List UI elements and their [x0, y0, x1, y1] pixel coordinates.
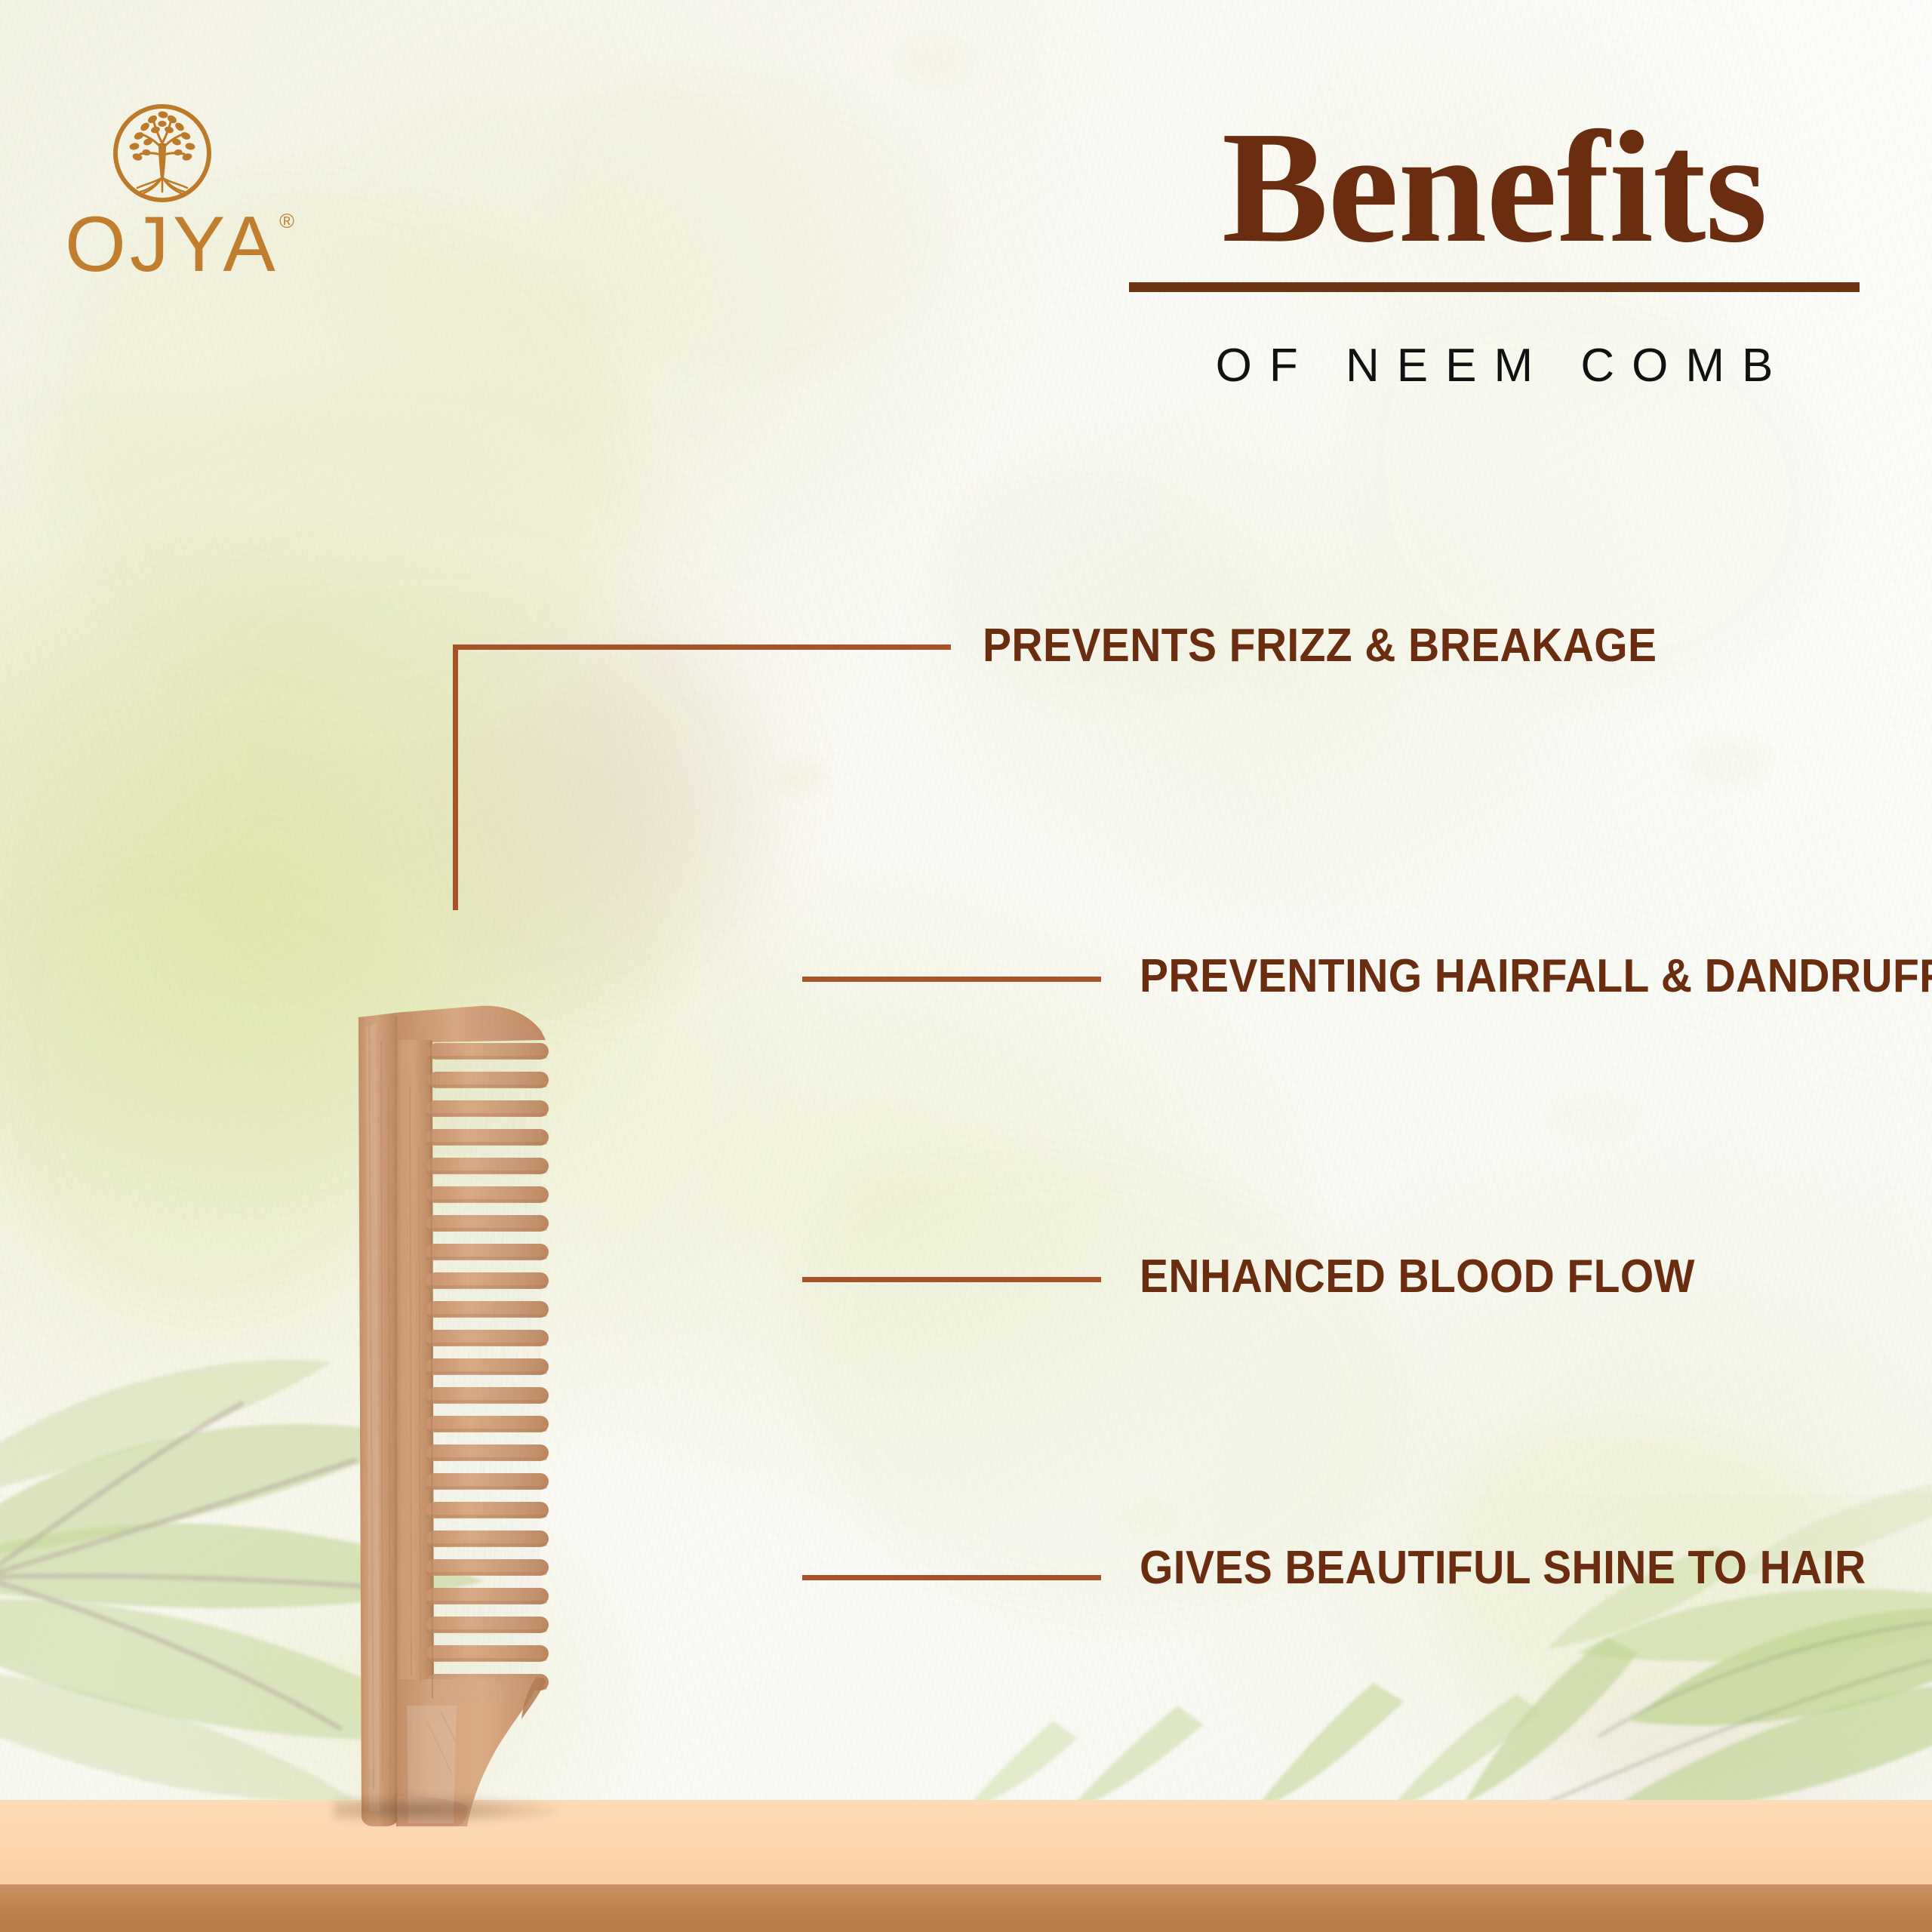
connector-line-horizontal-3	[802, 1277, 1101, 1282]
callout-label-4: GIVES BEAUTIFUL SHINE TO HAIR	[1140, 1541, 1866, 1595]
brand-logo[interactable]: OJYA ®	[65, 97, 291, 284]
connector-line-horizontal-2	[802, 977, 1101, 982]
comb-illustration	[343, 996, 592, 1834]
registered-trademark-icon: ®	[279, 210, 294, 233]
callout-label-2: PREVENTING HAIRFALL & DANDRUFF	[1140, 949, 1932, 1003]
callout-label-3: ENHANCED BLOOD FLOW	[1140, 1250, 1695, 1303]
connector-line-vertical-1	[453, 645, 458, 910]
floor-band-brown	[0, 1884, 1932, 1932]
page-title: Benefits	[1124, 106, 1864, 269]
connector-line-horizontal-4	[802, 1575, 1101, 1580]
comb-shadow	[333, 1796, 559, 1823]
brand-wordmark: OJYA	[65, 201, 279, 288]
floor-band-peach	[0, 1800, 1932, 1884]
title-divider	[1129, 282, 1860, 292]
page-subtitle: OF NEEM COMB	[1124, 339, 1864, 392]
poster-canvas: OJYA ® Benefits OF NEEM COMB PREVENTS FR…	[0, 0, 1932, 1932]
product-neem-comb	[343, 996, 592, 1834]
tree-in-circle-icon	[106, 97, 219, 210]
connector-line-horizontal-1	[453, 645, 951, 650]
callout-label-1: PREVENTS FRIZZ & BREAKAGE	[983, 619, 1657, 672]
header-block: Benefits OF NEEM COMB	[1124, 106, 1864, 392]
